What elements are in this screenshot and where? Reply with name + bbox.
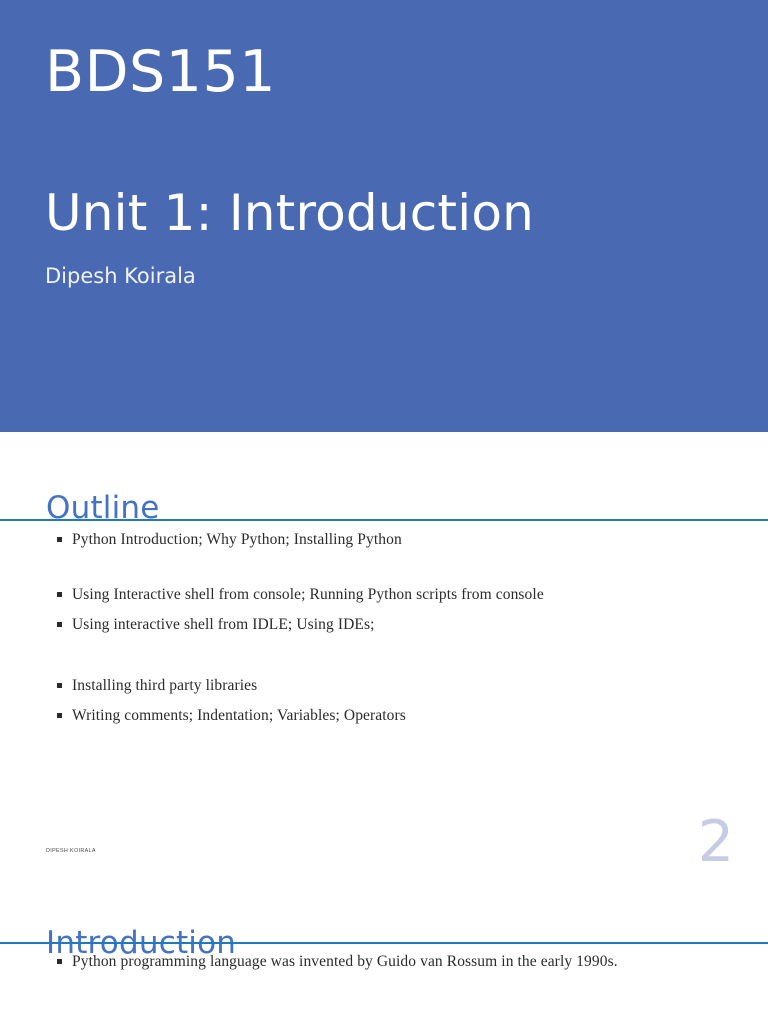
slide-footer-author: DIPESH KOIRALA [46,848,96,854]
outline-bullet-list: Python Introduction; Why Python; Install… [56,530,736,725]
course-code: BDS151 [45,44,276,101]
author-name: Dipesh Koirala [45,265,196,288]
introduction-heading-rule [0,942,768,944]
list-item: Using Interactive shell from console; Ru… [56,585,736,604]
list-item: Writing comments; Indentation; Variables… [56,706,736,725]
unit-title: Unit 1: Introduction [45,188,534,238]
introduction-slide: Introduction Python programming language… [0,888,768,1024]
list-item: Python programming language was invented… [56,952,736,971]
list-item: Installing third party libraries [56,676,736,695]
list-item: Using interactive shell from IDLE; Using… [56,615,736,634]
title-slide: BDS151 Unit 1: Introduction Dipesh Koira… [0,0,768,432]
outline-heading-rule [0,519,768,521]
list-item: Python Introduction; Why Python; Install… [56,530,736,549]
introduction-bullet-list: Python programming language was invented… [56,952,736,971]
page-number: 2 [698,814,734,871]
outline-slide: Outline Python Introduction; Why Python;… [0,432,768,888]
